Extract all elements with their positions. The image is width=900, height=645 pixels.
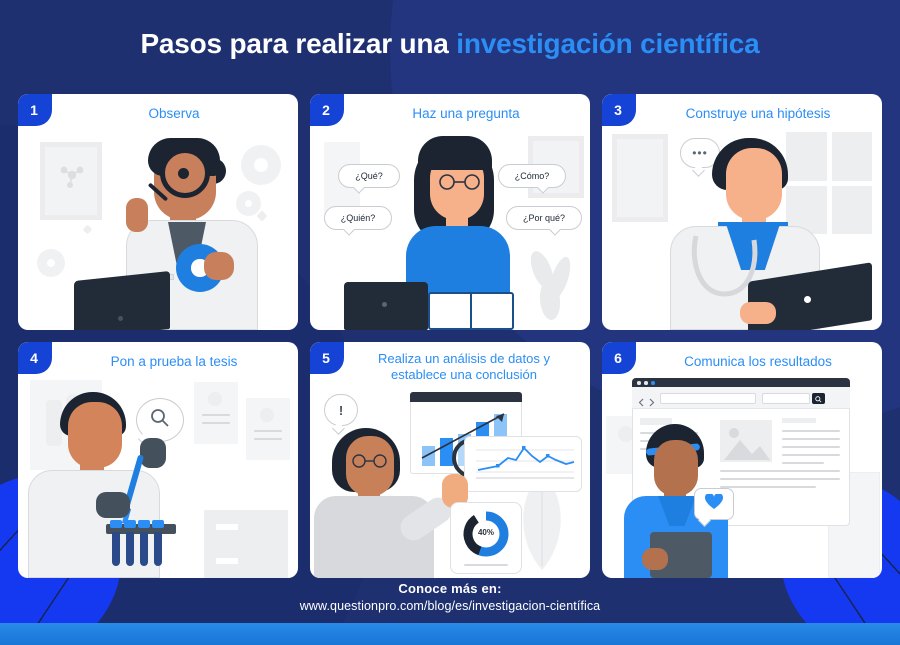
test-tube <box>112 532 120 566</box>
step-card-6[interactable]: 6 Comunica los resultados <box>602 342 882 578</box>
article-sidebar-line <box>782 454 840 456</box>
hand-left <box>126 198 148 232</box>
face <box>68 402 122 468</box>
cabinet-handle <box>216 524 238 530</box>
molecule-icon <box>58 162 86 190</box>
line-chart-plot <box>470 442 576 486</box>
page-title: Pasos para realizar una investigación ci… <box>0 28 900 60</box>
article-line <box>720 486 816 488</box>
test-tube-cap <box>124 520 136 528</box>
search-icon <box>815 390 822 408</box>
glove-left <box>96 492 130 518</box>
browser-address-bar[interactable] <box>660 393 756 404</box>
glasses-icon <box>434 174 486 190</box>
laptop-dot <box>804 296 811 303</box>
donut-chart-label: 40% <box>460 528 512 537</box>
step-card-5[interactable]: 5 Realiza un análisis de datos y estable… <box>310 342 590 578</box>
article-sidebar-line <box>782 430 840 432</box>
step-title-5-line1: Realiza un análisis de datos y <box>346 351 582 367</box>
glove-right <box>140 438 166 468</box>
step-number-badge-5: 5 <box>310 342 344 374</box>
question-bubble-2-label: ¿Quién? <box>341 213 376 223</box>
question-bubble-2: ¿Quién? <box>324 206 392 230</box>
step-title-2: Haz una pregunta <box>350 106 582 123</box>
book-spine <box>470 292 472 330</box>
step-title-4: Pon a prueba la tesis <box>58 354 290 371</box>
page-title-main: Pasos para realizar una <box>140 28 456 59</box>
sparkle-icon-3 <box>83 225 93 235</box>
footer: Conoce más en: www.questionpro.com/blog/… <box>0 581 900 613</box>
sparkle-icon-2 <box>256 210 267 221</box>
article-sidebar-heading <box>782 418 816 423</box>
step-card-2[interactable]: 2 Haz una pregunta ¿Qué? ¿Quién? <box>310 94 590 330</box>
window-pane <box>832 186 873 235</box>
hands-typing <box>740 302 776 324</box>
step-title-6: Comunica los resultados <box>642 354 874 371</box>
window-grid <box>786 132 872 234</box>
step-title-1: Observa <box>58 106 290 123</box>
step-card-4[interactable]: 4 Pon a prueba la tesis <box>18 342 298 578</box>
filing-cabinet <box>204 510 288 578</box>
bottom-accent-bar <box>0 623 900 645</box>
footer-label: Conoce más en: <box>0 581 900 596</box>
gear-icon-small <box>241 196 256 211</box>
browser-traffic-light-yellow <box>644 381 648 385</box>
alert-bubble: ! <box>324 394 358 426</box>
test-tube <box>140 532 148 566</box>
hand-holding-tablet <box>642 548 668 570</box>
plant-decoration <box>526 244 576 330</box>
step-card-1[interactable]: 1 Observa <box>18 94 298 330</box>
window-pane <box>786 132 827 181</box>
search-icon <box>150 408 170 433</box>
document-2-line <box>254 430 282 432</box>
article-line <box>720 478 840 480</box>
test-tube-cap <box>110 520 122 528</box>
question-bubble-1-label: ¿Qué? <box>355 171 383 181</box>
gear-icon-left <box>42 254 60 272</box>
step-number-badge-3: 3 <box>602 94 636 126</box>
step-number-badge-1: 1 <box>18 94 52 126</box>
illustration-doctor-hypothesis: ••• <box>602 94 882 330</box>
illustration-lab-testing <box>18 342 298 578</box>
question-bubble-4: ¿Por qué? <box>506 206 582 230</box>
hand-right <box>204 252 234 280</box>
step-title-5: Realiza un análisis de datos y establece… <box>346 351 582 384</box>
step-title-3: Construye una hipótesis <box>642 106 874 123</box>
face <box>726 148 782 220</box>
page-title-accent: investigación científica <box>456 28 759 59</box>
document-2-avatar <box>260 408 274 422</box>
document-2-line <box>254 438 282 440</box>
question-bubble-4-label: ¿Por qué? <box>523 213 565 223</box>
article-sidebar-line <box>782 446 840 448</box>
illustration-woman-asking-questions: ¿Qué? ¿Quién? ¿Cómo? ¿Por qué? <box>310 94 590 330</box>
exclamation-icon: ! <box>339 404 343 417</box>
test-tube <box>154 532 162 566</box>
article-sidebar-line <box>782 438 840 440</box>
browser-search-bar[interactable] <box>762 393 810 404</box>
laptop-dot <box>382 302 387 307</box>
document-1-line <box>202 414 230 416</box>
question-bubble-1: ¿Qué? <box>338 164 400 188</box>
test-tube-cap <box>152 520 164 528</box>
browser-traffic-light-red <box>637 381 641 385</box>
glasses-icon <box>348 454 392 468</box>
wall-frame <box>612 134 668 222</box>
test-tube <box>126 532 134 566</box>
like-bubble <box>694 488 734 520</box>
step-number-badge-6: 6 <box>602 342 636 374</box>
window-pane <box>832 132 873 181</box>
cabinet-handle <box>216 558 238 564</box>
question-bubble-3-label: ¿Cómo? <box>515 171 550 181</box>
laptop <box>74 271 170 330</box>
browser-back-icon <box>638 394 645 403</box>
browser-traffic-light-green <box>651 381 655 385</box>
heart-icon <box>705 494 723 515</box>
footer-url[interactable]: www.questionpro.com/blog/es/investigacio… <box>0 599 900 613</box>
steps-grid: 1 Observa <box>18 94 882 578</box>
image-placeholder-icon <box>720 420 772 462</box>
step-number-badge-4: 4 <box>18 342 52 374</box>
question-bubble-3: ¿Cómo? <box>498 164 566 188</box>
article-sidebar-line <box>782 462 824 464</box>
document-1-line <box>202 422 230 424</box>
step-number-badge-2: 2 <box>310 94 344 126</box>
illustration-communicate-results <box>602 342 882 578</box>
magnifier-pupil <box>178 168 189 179</box>
thinking-dots-icon: ••• <box>692 147 708 159</box>
gear-icon-large <box>246 150 276 180</box>
document-1-avatar <box>208 392 222 406</box>
browser-titlebar <box>632 378 850 387</box>
illustration-scientist-observing <box>18 94 298 330</box>
browser-forward-icon <box>648 394 655 403</box>
laptop-camera-dot <box>118 316 123 321</box>
donut-card-line <box>464 564 508 566</box>
browser-search-button[interactable] <box>812 393 825 404</box>
article-line <box>720 470 840 472</box>
step-card-3[interactable]: 3 Construye una hipótesis ••• <box>602 94 882 330</box>
test-tube-cap <box>138 520 150 528</box>
step-title-5-line2: establece una conclusión <box>346 367 582 383</box>
bar-chart-window-titlebar <box>410 392 522 402</box>
hair-front <box>418 136 492 170</box>
